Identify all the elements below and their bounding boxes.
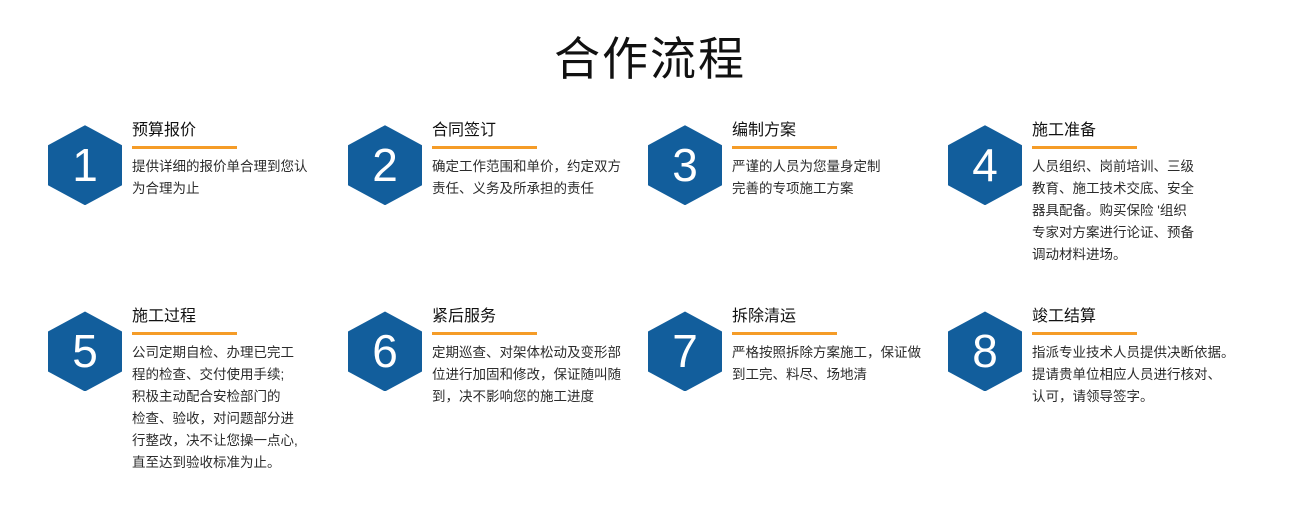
step-number: 7	[672, 328, 698, 374]
step-title: 合同签订	[432, 121, 648, 146]
step-number: 6	[372, 328, 398, 374]
step-description: 指派专业技术人员提供决断依据。 提请贵单位相应人员进行核对、 认可，请领导签字。	[1032, 342, 1268, 408]
step-card-5[interactable]: 5 施工过程 公司定期自检、办理已完工 程的检查、交付使用手续; 积极主动配合安…	[48, 307, 348, 473]
step-title: 编制方案	[732, 121, 948, 146]
step-number: 2	[372, 142, 398, 188]
step-description: 公司定期自检、办理已完工 程的检查、交付使用手续; 积极主动配合安检部门的 检查…	[132, 342, 348, 473]
step-description: 严格按照拆除方案施工，保证做 到工完、料尽、场地清	[732, 342, 948, 386]
step-title: 预算报价	[132, 121, 348, 146]
hexagon-badge-8: 8	[948, 311, 1022, 391]
step-text-6: 紧后服务 定期巡查、对架体松动及变形部 位进行加固和修改，保证随叫随 到，决不影…	[422, 307, 648, 408]
step-description: 人员组织、岗前培训、三级 教育、施工技术交底、安全 器具配备。购买保险 '组织 …	[1032, 156, 1268, 265]
step-card-1[interactable]: 1 预算报价 提供详细的报价单合理到您认 为合理为止	[48, 121, 348, 205]
step-text-5: 施工过程 公司定期自检、办理已完工 程的检查、交付使用手续; 积极主动配合安检部…	[122, 307, 348, 473]
hexagon-icon: 5	[48, 311, 122, 391]
accent-rule	[132, 332, 237, 335]
step-card-4[interactable]: 4 施工准备 人员组织、岗前培训、三级 教育、施工技术交底、安全 器具配备。购买…	[948, 121, 1268, 265]
step-title: 拆除清运	[732, 307, 948, 332]
step-number: 1	[72, 142, 98, 188]
step-card-2[interactable]: 2 合同签订 确定工作范围和单价，约定双方 责任、义务及所承担的责任	[348, 121, 648, 205]
accent-rule	[1032, 332, 1137, 335]
hexagon-badge-4: 4	[948, 125, 1022, 205]
hexagon-icon: 3	[648, 125, 722, 205]
step-number: 8	[972, 328, 998, 374]
accent-rule	[432, 332, 537, 335]
step-description: 定期巡查、对架体松动及变形部 位进行加固和修改，保证随叫随 到，决不影响您的施工…	[432, 342, 648, 408]
steps-container: 1 预算报价 提供详细的报价单合理到您认 为合理为止 2 合同签订 确定工作范围…	[0, 121, 1300, 473]
hexagon-icon: 6	[348, 311, 422, 391]
hexagon-badge-2: 2	[348, 125, 422, 205]
hexagon-badge-7: 7	[648, 311, 722, 391]
step-text-8: 竣工结算 指派专业技术人员提供决断依据。 提请贵单位相应人员进行核对、 认可，请…	[1022, 307, 1268, 408]
step-card-6[interactable]: 6 紧后服务 定期巡查、对架体松动及变形部 位进行加固和修改，保证随叫随 到，决…	[348, 307, 648, 408]
hexagon-icon: 2	[348, 125, 422, 205]
accent-rule	[732, 332, 837, 335]
step-text-4: 施工准备 人员组织、岗前培训、三级 教育、施工技术交底、安全 器具配备。购买保险…	[1022, 121, 1268, 265]
step-title: 施工准备	[1032, 121, 1268, 146]
accent-rule	[1032, 146, 1137, 149]
step-card-3[interactable]: 3 编制方案 严谨的人员为您量身定制 完善的专项施工方案	[648, 121, 948, 205]
step-text-3: 编制方案 严谨的人员为您量身定制 完善的专项施工方案	[722, 121, 948, 200]
step-description: 严谨的人员为您量身定制 完善的专项施工方案	[732, 156, 948, 200]
step-text-1: 预算报价 提供详细的报价单合理到您认 为合理为止	[122, 121, 348, 200]
hexagon-badge-3: 3	[648, 125, 722, 205]
step-number: 3	[672, 142, 698, 188]
step-number: 5	[72, 328, 98, 374]
accent-rule	[432, 146, 537, 149]
step-text-7: 拆除清运 严格按照拆除方案施工，保证做 到工完、料尽、场地清	[722, 307, 948, 386]
step-description: 提供详细的报价单合理到您认 为合理为止	[132, 156, 348, 200]
step-card-7[interactable]: 7 拆除清运 严格按照拆除方案施工，保证做 到工完、料尽、场地清	[648, 307, 948, 391]
hexagon-badge-6: 6	[348, 311, 422, 391]
accent-rule	[732, 146, 837, 149]
infographic-page: { "title": "合作流程", "colors": { "hexagon"…	[0, 0, 1300, 532]
hexagon-icon: 1	[48, 125, 122, 205]
hexagon-badge-1: 1	[48, 125, 122, 205]
hexagon-icon: 4	[948, 125, 1022, 205]
step-title: 竣工结算	[1032, 307, 1268, 332]
steps-row-top: 1 预算报价 提供详细的报价单合理到您认 为合理为止 2 合同签订 确定工作范围…	[0, 121, 1300, 265]
step-number: 4	[972, 142, 998, 188]
hexagon-icon: 7	[648, 311, 722, 391]
step-text-2: 合同签订 确定工作范围和单价，约定双方 责任、义务及所承担的责任	[422, 121, 648, 200]
step-title: 施工过程	[132, 307, 348, 332]
steps-row-bottom: 5 施工过程 公司定期自检、办理已完工 程的检查、交付使用手续; 积极主动配合安…	[0, 307, 1300, 473]
step-card-8[interactable]: 8 竣工结算 指派专业技术人员提供决断依据。 提请贵单位相应人员进行核对、 认可…	[948, 307, 1268, 408]
accent-rule	[132, 146, 237, 149]
hexagon-icon: 8	[948, 311, 1022, 391]
hexagon-badge-5: 5	[48, 311, 122, 391]
page-title: 合作流程	[0, 0, 1300, 87]
step-title: 紧后服务	[432, 307, 648, 332]
step-description: 确定工作范围和单价，约定双方 责任、义务及所承担的责任	[432, 156, 648, 200]
